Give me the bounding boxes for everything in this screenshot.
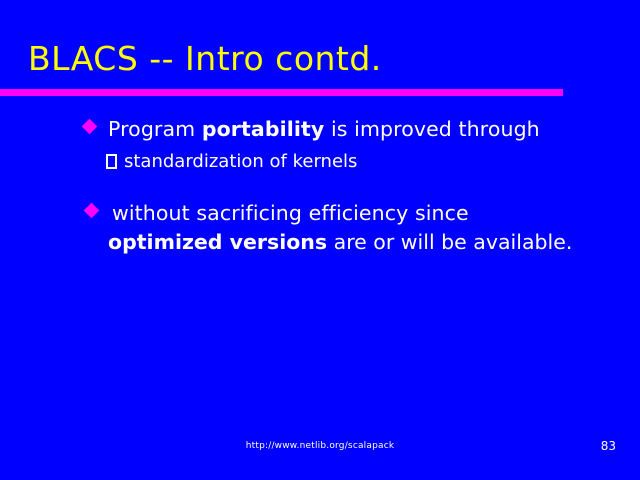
sub-bullet-text: standardization of kernels [106, 151, 640, 173]
list-item: Program portability is improved through [0, 116, 640, 142]
bullet-continuation-tail: are or will be available. [327, 230, 572, 254]
slide: BLACS -- Intro contd. Program portabilit… [0, 0, 640, 480]
list-item: without sacrificing efficiency since [0, 200, 640, 226]
bullet-continuation-line: optimized versions are or will be availa… [0, 229, 640, 255]
page-number: 83 [601, 439, 616, 453]
footer-url: http://www.netlib.org/scalapack [0, 441, 640, 451]
bullet-text-lead: Program [108, 117, 202, 141]
box-bullet-icon [106, 154, 117, 169]
title-divider [0, 89, 563, 96]
page-title: BLACS -- Intro contd. [28, 42, 382, 77]
sub-list-item: standardization of kernels [0, 151, 640, 173]
bullet-text: Program portability is improved through [84, 116, 640, 142]
bullet-text-emphasis: portability [202, 117, 325, 141]
bullet-text-tail: is improved through [324, 117, 539, 141]
bullet-continuation-emphasis: optimized versions [108, 230, 327, 254]
bullet-text: without sacrificing efficiency since [84, 200, 640, 226]
slide-body: Program portability is improved through … [0, 116, 640, 255]
